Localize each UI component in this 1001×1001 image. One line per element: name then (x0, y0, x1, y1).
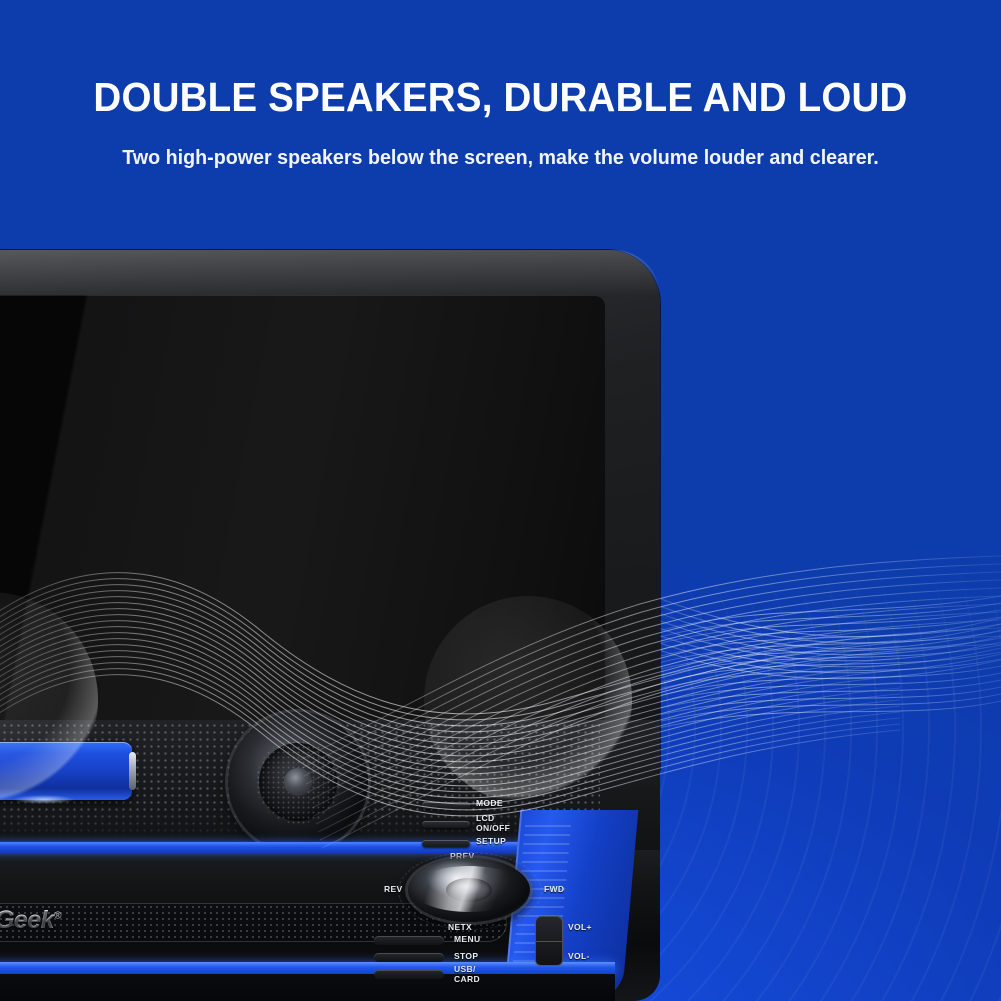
brand-logo: ieGeek® (0, 906, 195, 935)
blue-hinge-bar (0, 742, 132, 800)
registered-mark: ® (54, 911, 61, 922)
speaker-right (228, 712, 368, 852)
screen-reflection (0, 295, 605, 765)
usb-card-label: USB/ CARD (454, 965, 480, 984)
fwd-label: FWD (544, 885, 564, 895)
mode-button[interactable] (422, 802, 470, 809)
usb-card-button[interactable] (374, 970, 444, 979)
speaker-dome-right (284, 768, 312, 796)
dial-highlight (412, 866, 526, 912)
brand-name: ieGeek (0, 906, 54, 934)
navigation-dial[interactable] (408, 858, 530, 922)
hinge-cap-right (129, 752, 136, 790)
volume-down-label: VOL- (568, 952, 590, 962)
lcd-onoff-button[interactable] (422, 821, 470, 828)
page-title: DOUBLE SPEAKERS, DURABLE AND LOUD (30, 74, 971, 121)
stop-label: STOP (454, 952, 478, 962)
lcd-screen (0, 295, 605, 765)
control-panel: MODE LCD ON/OFF SETUP PREV REV FWD NETX … (392, 790, 607, 985)
lid-highlight (0, 250, 660, 296)
mode-label: MODE (476, 799, 503, 809)
screen-lid (0, 250, 660, 770)
setup-label: SETUP (476, 837, 506, 847)
product-banner: DOUBLE SPEAKERS, DURABLE AND LOUD Two hi… (0, 0, 1001, 1001)
page-subtitle: Two high-power speakers below the screen… (20, 146, 981, 170)
menu-button[interactable] (374, 936, 444, 945)
volume-rocker[interactable] (535, 916, 563, 966)
hinge-notch (13, 795, 75, 804)
netx-label: NETX (448, 923, 472, 933)
menu-label: MENU (454, 935, 480, 945)
stop-button[interactable] (374, 953, 444, 962)
setup-button[interactable] (422, 840, 470, 847)
volume-up-label: VOL+ (568, 923, 592, 933)
dvd-player-device: ieGeek® MODE LCD ON/OFF SETUP PREV REV F… (0, 250, 660, 1001)
lcd-onoff-label: LCD ON/OFF (476, 814, 510, 833)
rev-label: REV (384, 885, 403, 895)
